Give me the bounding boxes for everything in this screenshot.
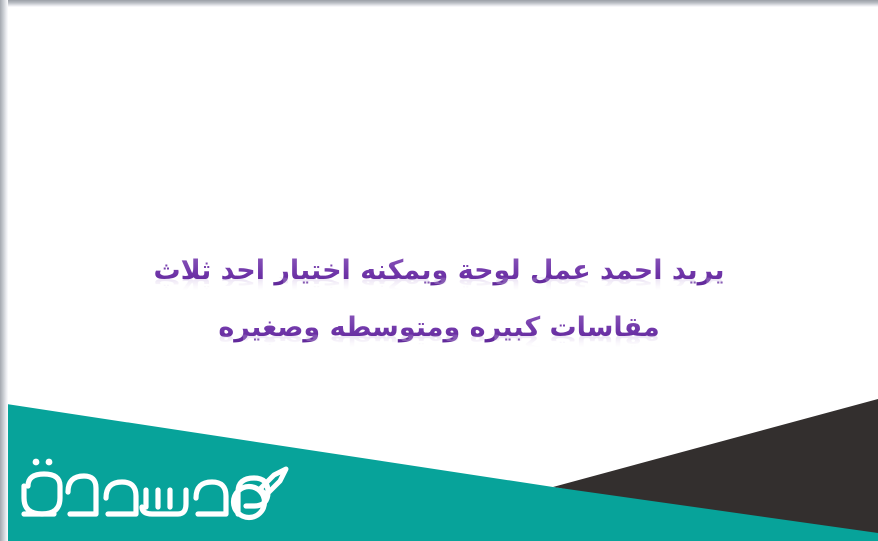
brand-logo[interactable] bbox=[6, 452, 296, 532]
slide-canvas: يريد احمد عمل لوحة ويمكنه اختيار احد ثلا… bbox=[0, 0, 878, 541]
headline-block: يريد احمد عمل لوحة ويمكنه اختيار احد ثلا… bbox=[0, 243, 878, 357]
headline-line-1: يريد احمد عمل لوحة ويمكنه اختيار احد ثلا… bbox=[0, 243, 878, 298]
magnifier-pen-icon bbox=[260, 469, 286, 495]
headline-line-2: مقاسات كبيره ومتوسطه وصغيره bbox=[0, 300, 878, 355]
brand-logo-wordmark bbox=[24, 459, 268, 518]
